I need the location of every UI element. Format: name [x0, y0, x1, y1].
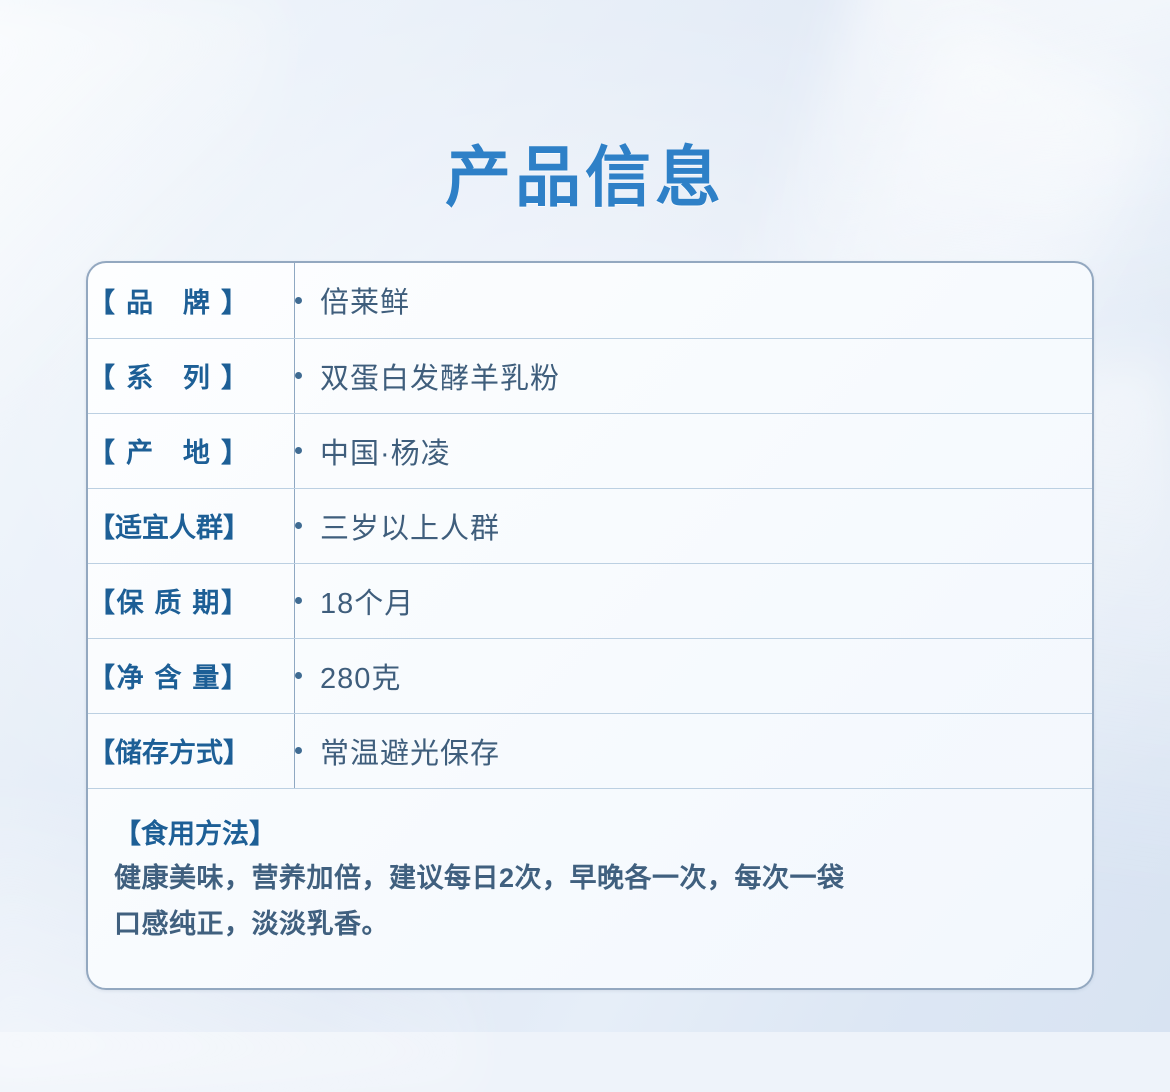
spec-value-series: 双蛋白发酵羊乳粉	[320, 355, 560, 397]
spec-label-cell: 【适宜人群】	[88, 488, 295, 563]
table-row: 【产 地】 中国·杨凌	[88, 413, 1092, 488]
spec-label-target-group: 【适宜人群】	[88, 506, 248, 545]
table-row: 【保 质 期】 18个月	[88, 563, 1092, 638]
spec-value-cell: 常温避光保存	[295, 713, 1093, 788]
spec-value-cell: 280克	[295, 638, 1093, 713]
table-row: 【适宜人群】 三岁以上人群	[88, 488, 1092, 563]
table-row: 【系 列】 双蛋白发酵羊乳粉	[88, 338, 1092, 413]
spec-label-series: 【系 列】	[88, 356, 248, 395]
product-spec-table: 【品 牌】 倍莱鲜 【系 列】 双蛋白发酵羊乳粉	[88, 263, 1092, 789]
spec-value-cell: 中国·杨凌	[295, 413, 1093, 488]
bullet-icon	[295, 522, 302, 529]
spec-value-shelf-life: 18个月	[320, 580, 414, 622]
bullet-icon	[295, 597, 302, 604]
table-row: 【净 含 量】 280克	[88, 638, 1092, 713]
table-row: 【储存方式】 常温避光保存	[88, 713, 1092, 788]
spec-label-storage: 【储存方式】	[88, 731, 248, 770]
usage-instructions-section: 【食用方法】 健康美味，营养加倍，建议每日2次，早晚各一次，每次一袋 口感纯正，…	[88, 789, 1092, 947]
usage-instructions-line-1: 健康美味，营养加倍，建议每日2次，早晚各一次，每次一袋	[114, 855, 1066, 901]
spec-label-shelf-life: 【保 质 期】	[88, 581, 248, 620]
spec-label-cell: 【储存方式】	[88, 713, 295, 788]
spec-value-origin: 中国·杨凌	[320, 430, 451, 472]
spec-label-cell: 【品 牌】	[88, 263, 295, 338]
spec-label-cell: 【净 含 量】	[88, 638, 295, 713]
spec-value-brand: 倍莱鲜	[320, 279, 410, 321]
bullet-icon	[295, 672, 302, 679]
spec-value-cell: 三岁以上人群	[295, 488, 1093, 563]
spec-value-net-weight: 280克	[320, 655, 401, 697]
spec-value-cell: 倍莱鲜	[295, 263, 1093, 338]
bullet-icon	[295, 447, 302, 454]
bullet-icon	[295, 372, 302, 379]
page-title: 产品信息	[0, 138, 1170, 216]
spec-label-cell: 【保 质 期】	[88, 563, 295, 638]
spec-value-target-group: 三岁以上人群	[320, 505, 500, 547]
product-info-card: 【品 牌】 倍莱鲜 【系 列】 双蛋白发酵羊乳粉	[86, 261, 1094, 990]
spec-value-cell: 双蛋白发酵羊乳粉	[295, 338, 1093, 413]
usage-instructions-title: 【食用方法】	[114, 813, 1066, 855]
spec-label-brand: 【品 牌】	[88, 281, 248, 320]
table-row: 【品 牌】 倍莱鲜	[88, 263, 1092, 338]
spec-label-net-weight: 【净 含 量】	[88, 656, 248, 695]
spec-value-storage: 常温避光保存	[320, 730, 500, 772]
bullet-icon	[295, 297, 302, 304]
usage-instructions-line-2: 口感纯正，淡淡乳香。	[114, 901, 1066, 947]
spec-label-origin: 【产 地】	[88, 431, 248, 470]
spec-label-cell: 【产 地】	[88, 413, 295, 488]
spec-label-cell: 【系 列】	[88, 338, 295, 413]
spec-value-cell: 18个月	[295, 563, 1093, 638]
bullet-icon	[295, 747, 302, 754]
